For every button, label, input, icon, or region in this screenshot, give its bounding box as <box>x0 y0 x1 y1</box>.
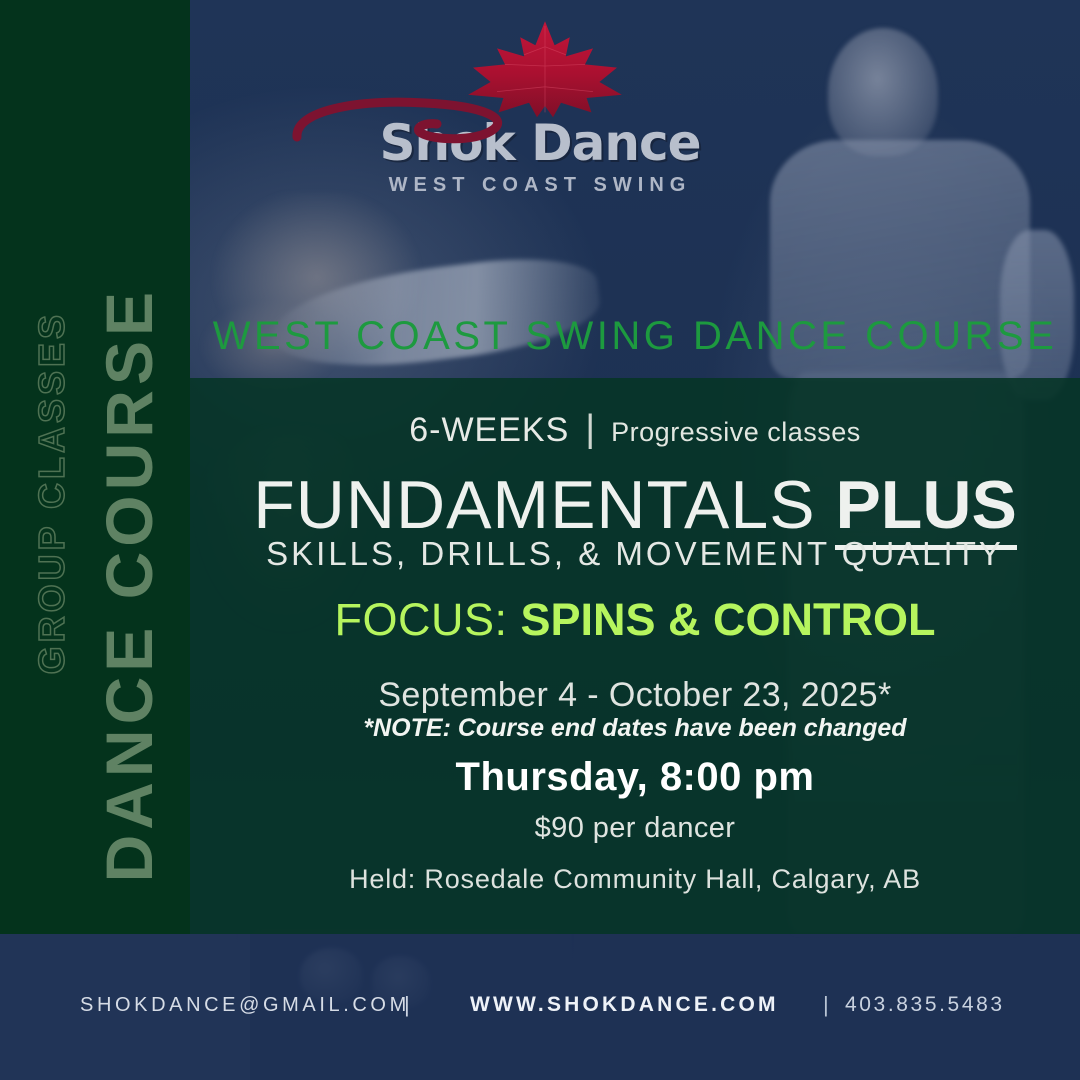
focus-row: FOCUS: SPINS & CONTROL <box>190 594 1080 646</box>
footer-contact-row: SHOKDANCE@GMAIL.COM | WWW.SHOKDANCE.COM … <box>0 985 1080 1025</box>
focus-label: FOCUS: <box>334 594 520 645</box>
headline-main: FUNDAMENTALS <box>253 467 835 543</box>
duration-row: 6-WEEKS | Progressive classes <box>190 408 1080 451</box>
duration-separator: | <box>585 408 595 451</box>
course-dates-note: *NOTE: Course end dates have been change… <box>190 714 1080 743</box>
footer-separator-2: | <box>823 992 829 1018</box>
duration-label: 6-WEEKS <box>409 411 569 450</box>
subheading: SKILLS, DRILLS, & MOVEMENT QUALITY <box>190 535 1080 573</box>
course-dates: September 4 - October 23, 2025* <box>190 676 1080 715</box>
footer-email[interactable]: SHOKDANCE@GMAIL.COM <box>80 994 410 1017</box>
format-label: Progressive classes <box>611 417 861 448</box>
page-title: FUNDAMENTALS PLUS <box>190 466 1080 544</box>
class-day-time: Thursday, 8:00 pm <box>190 755 1080 800</box>
course-kicker: WEST COAST SWING DANCE COURSE <box>190 314 1080 359</box>
price-label: $90 per dancer <box>190 812 1080 845</box>
poster-canvas: DANCE COURSE GROUP CLASSES <box>0 0 1080 1080</box>
footer-phone[interactable]: 403.835.5483 <box>845 993 1005 1017</box>
main-content: WEST COAST SWING DANCE COURSE 6-WEEKS | … <box>190 0 1080 934</box>
vertical-subtitle-group-classes: GROUP CLASSES <box>34 311 70 674</box>
vertical-title-dance-course: DANCE COURSE <box>96 287 162 882</box>
venue-label: Held: Rosedale Community Hall, Calgary, … <box>190 864 1080 895</box>
footer-separator-1: | <box>404 992 410 1018</box>
focus-value: SPINS & CONTROL <box>520 594 935 645</box>
footer-website[interactable]: WWW.SHOKDANCE.COM <box>470 993 779 1017</box>
